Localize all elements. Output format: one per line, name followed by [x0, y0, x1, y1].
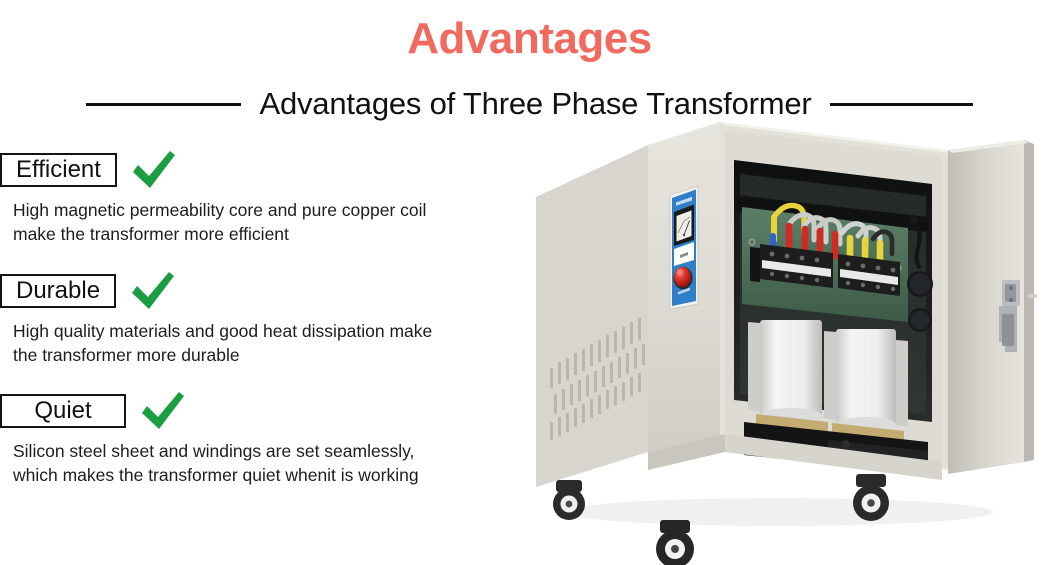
base-bolt — [842, 440, 850, 448]
feature-item-efficient: Efficient High magnetic permeability cor… — [0, 151, 545, 246]
cable-clip — [911, 217, 918, 224]
feature-label: Efficient — [16, 157, 101, 183]
green-check-icon — [131, 150, 177, 190]
green-check-icon — [130, 271, 176, 311]
feature-label: Durable — [16, 278, 100, 304]
feature-label-box: Efficient — [0, 153, 117, 187]
page-title: Advantages — [0, 14, 1059, 64]
subtitle-row: Advantages of Three Phase Transformer — [0, 84, 1059, 124]
feature-description-line1: High quality materials and good heat dis… — [13, 319, 513, 343]
caster — [656, 520, 694, 565]
feature-label-box: Durable — [0, 274, 116, 308]
emergency-stop-button[interactable] — [673, 267, 692, 289]
feature-description-line1: Silicon steel sheet and windings are set… — [13, 439, 513, 463]
feature-description-line1: High magnetic permeability core and pure… — [13, 198, 513, 222]
feature-header: Efficient — [0, 151, 545, 189]
subtitle-text: Advantages of Three Phase Transformer — [259, 86, 811, 122]
feature-description-line2: the transformer more durable — [13, 343, 513, 367]
feature-item-quiet: Quiet Silicon steel sheet and windings a… — [0, 392, 545, 487]
door-keeper-pin — [1028, 294, 1037, 298]
control-panel[interactable] — [670, 186, 698, 309]
floor-shadow — [563, 498, 993, 526]
feature-label-box: Quiet — [0, 394, 126, 428]
product-photo — [528, 122, 1059, 565]
feature-description-line2: make the transformer more efficient — [13, 222, 513, 246]
door-latch[interactable] — [999, 280, 1020, 352]
subtitle-rule-right — [830, 103, 973, 106]
transformer-cabinet-illustration — [528, 122, 1059, 565]
feature-description: High quality materials and good heat dis… — [13, 319, 513, 367]
caster — [853, 474, 889, 521]
transformer-coils — [748, 320, 908, 440]
feature-list: Efficient High magnetic permeability cor… — [0, 140, 545, 507]
feature-label: Quiet — [34, 398, 91, 424]
open-door[interactable] — [948, 140, 1037, 474]
caster — [553, 480, 585, 520]
advantages-banner: Advantages Advantages of Three Phase Tra… — [0, 0, 1059, 565]
door-edge — [1024, 140, 1034, 462]
feature-description-line2: which makes the transformer quiet whenit… — [13, 463, 513, 487]
green-check-icon — [140, 391, 186, 431]
feature-description: Silicon steel sheet and windings are set… — [13, 439, 513, 487]
feature-header: Quiet — [0, 392, 545, 430]
subtitle-rule-left — [86, 103, 241, 106]
feature-item-durable: Durable High quality materials and good … — [0, 272, 545, 367]
feature-description: High magnetic permeability core and pure… — [13, 198, 513, 246]
feature-header: Durable — [0, 272, 545, 310]
